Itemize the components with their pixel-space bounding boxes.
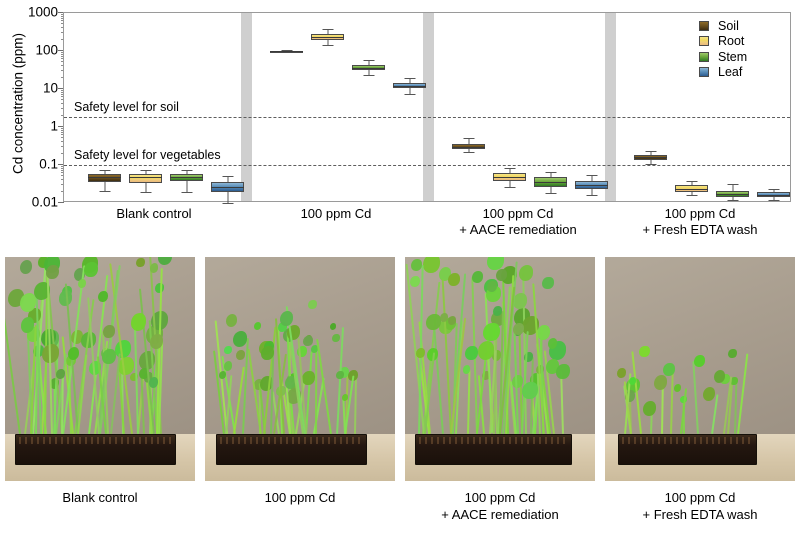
box-soil-group-3 <box>634 13 667 203</box>
sprout-leaf <box>465 346 477 360</box>
median-line <box>634 157 667 158</box>
photo-panel-3: 100 ppm Cd+ Fresh EDTA wash <box>605 257 795 481</box>
box-soil-group-1 <box>270 13 303 203</box>
photo-caption-line1: 100 ppm Cd <box>205 489 395 506</box>
sprout-leaf <box>219 371 226 379</box>
legend-swatch-root-icon <box>699 36 709 46</box>
whisker-cap-lower <box>463 152 474 153</box>
legend-swatch-leaf-icon <box>699 67 709 77</box>
sprout-leaf <box>84 262 98 278</box>
whisker-cap-lower <box>99 191 110 192</box>
y-tick-label-5: 0.01 <box>32 195 58 210</box>
photo-caption-3: 100 ppm Cd+ Fresh EDTA wash <box>605 489 795 523</box>
box-root-group-0 <box>129 13 162 203</box>
sprout-leaf <box>308 300 316 309</box>
soil-tray <box>618 434 757 465</box>
sprout-leaf <box>233 331 247 347</box>
box-stem-group-0 <box>170 13 203 203</box>
photo-caption-line1: 100 ppm Cd <box>605 489 795 506</box>
whisker-cap-upper <box>404 78 415 79</box>
legend-item-leaf[interactable]: Leaf <box>699 65 783 81</box>
photo-strip: Blank control100 ppm Cd100 ppm Cd+ AACE … <box>0 257 801 538</box>
box-body <box>88 174 121 182</box>
x-group-label-1: 100 ppm Cd <box>245 206 427 222</box>
sprout-leaf <box>493 306 501 315</box>
sprout-leaf <box>513 293 527 309</box>
whisker-cap-upper <box>727 184 738 185</box>
sprout-leaf <box>416 348 425 358</box>
median-line <box>716 194 749 195</box>
sprout-leaf <box>224 346 231 354</box>
whisker-cap-lower <box>545 193 556 194</box>
sprout-leaf <box>336 371 343 379</box>
y-tick-label-0: 1000 <box>28 5 58 20</box>
median-line <box>129 177 162 178</box>
x-group-label-0: Blank control <box>63 206 245 222</box>
sprout-leaf <box>302 371 315 385</box>
sprout-leaf <box>332 334 340 343</box>
median-line <box>757 195 790 196</box>
whisker-cap-upper <box>686 181 697 182</box>
whisker-cap-lower <box>363 75 374 76</box>
median-line <box>493 177 526 178</box>
x-group-label-line1: 100 ppm Cd <box>245 206 427 222</box>
x-group-label-line2: + AACE remediation <box>427 222 609 238</box>
sprout-leaf <box>714 370 725 382</box>
sprout-leaf <box>556 364 569 379</box>
whisker-cap-upper <box>99 170 110 171</box>
whisker-cap-upper <box>181 170 192 171</box>
sprout-leaf <box>542 277 553 290</box>
whisker-cap-upper <box>768 189 779 190</box>
soil-tray <box>15 434 177 465</box>
whisker-cap-upper <box>140 170 151 171</box>
box-stem-group-2 <box>534 13 567 203</box>
legend-item-stem[interactable]: Stem <box>699 49 783 65</box>
legend-item-root[interactable]: Root <box>699 34 783 50</box>
box-leaf-group-1 <box>393 13 426 203</box>
box-stem-group-1 <box>352 13 385 203</box>
sprout-leaf <box>150 263 159 273</box>
photo-panel-2: 100 ppm Cd+ AACE remediation <box>405 257 595 481</box>
sprout-leaf <box>280 311 293 326</box>
box-root-group-2 <box>493 13 526 203</box>
photo-caption-line1: 100 ppm Cd <box>405 489 595 506</box>
legend-label: Root <box>718 35 744 48</box>
x-group-label-3: 100 ppm Cd+ Fresh EDTA wash <box>609 206 791 238</box>
legend-swatch-stem-icon <box>699 52 709 62</box>
sprout-photo-0 <box>5 257 195 481</box>
median-line <box>452 147 485 148</box>
photo-caption-line1: Blank control <box>5 489 195 506</box>
sprout-photo-2 <box>405 257 595 481</box>
legend-label: Stem <box>718 51 747 64</box>
sprout-leaf <box>537 325 550 339</box>
whisker-lower <box>591 189 592 196</box>
sprout-leaf <box>440 313 448 322</box>
sprout-leaf <box>303 336 312 346</box>
x-group-label-line1: Blank control <box>63 206 245 222</box>
whisker-cap-lower <box>404 94 415 95</box>
photo-panel-1: 100 ppm Cd <box>205 257 395 481</box>
whisker-cap-lower <box>222 203 233 204</box>
whisker-cap-upper <box>363 60 374 61</box>
whisker-cap-lower <box>727 200 738 201</box>
sprout-leaf <box>654 375 667 390</box>
median-line <box>352 68 385 69</box>
photo-caption-0: Blank control <box>5 489 195 506</box>
sprout-stem <box>315 349 317 434</box>
photo-caption-1: 100 ppm Cd <box>205 489 395 506</box>
whisker-lower <box>145 183 146 191</box>
median-line <box>575 185 608 186</box>
y-tick-label-3: 1 <box>50 119 58 134</box>
legend-item-soil[interactable]: Soil <box>699 18 783 34</box>
whisker-lower <box>104 182 105 191</box>
sprout-leaf <box>56 369 65 379</box>
chart-legend: SoilRootStemLeaf <box>699 18 783 80</box>
legend-swatch-soil-icon <box>699 21 709 31</box>
figure-root: Cd concentration (ppm) 10001001010.10.01… <box>0 0 801 538</box>
y-axis-tick-labels: 10001001010.10.01 <box>0 12 58 202</box>
median-line <box>211 187 244 188</box>
sprout-leaf <box>548 338 558 349</box>
box-soil-group-0 <box>88 13 121 203</box>
sprout-leaf <box>522 382 538 400</box>
legend-label: Leaf <box>718 66 742 79</box>
box-soil-group-2 <box>452 13 485 203</box>
box-body <box>129 174 162 184</box>
sprout-photo-1 <box>205 257 395 481</box>
sprout-photo-3 <box>605 257 795 481</box>
whisker-lower <box>227 192 228 203</box>
whisker-lower <box>550 187 551 194</box>
whisker-cap-upper <box>322 29 333 30</box>
photo-caption-line2: + Fresh EDTA wash <box>605 506 795 523</box>
x-group-label-2: 100 ppm Cd+ AACE remediation <box>427 206 609 238</box>
x-group-label-line2: + Fresh EDTA wash <box>609 222 791 238</box>
whisker-cap-lower <box>322 45 333 46</box>
soil-tray <box>216 434 366 465</box>
median-line <box>534 182 567 183</box>
median-line <box>270 51 303 52</box>
boxplot-chart: Cd concentration (ppm) 10001001010.10.01… <box>0 0 801 255</box>
sprout-leaf <box>149 377 158 387</box>
whisker-cap-lower <box>645 164 656 165</box>
whisker-cap-upper <box>586 175 597 176</box>
photo-background-wall <box>605 257 795 434</box>
median-line <box>393 86 426 87</box>
whisker-cap-lower <box>768 200 779 201</box>
whisker-cap-lower <box>181 192 192 193</box>
median-line <box>675 189 708 190</box>
whisker-cap-upper <box>504 168 515 169</box>
sprout-leaf <box>410 276 420 287</box>
whisker-lower <box>186 181 187 192</box>
sprout-leaf <box>236 350 245 360</box>
sprout-leaf <box>261 346 273 360</box>
box-leaf-group-0 <box>211 13 244 203</box>
median-line <box>88 177 121 178</box>
x-axis-group-labels: Blank control100 ppm Cd100 ppm Cd+ AACE … <box>63 206 791 254</box>
whisker-cap-lower <box>504 187 515 188</box>
y-tick-label-2: 10 <box>43 81 58 96</box>
whisker-cap-upper <box>645 151 656 152</box>
legend-label: Soil <box>718 20 739 33</box>
box-leaf-group-2 <box>575 13 608 203</box>
y-tick-major-5 <box>58 202 64 203</box>
whisker-cap-upper <box>463 138 474 139</box>
sprout-stem <box>354 375 357 434</box>
whisker-cap-upper <box>545 172 556 173</box>
x-group-label-line1: 100 ppm Cd <box>427 206 609 222</box>
box-root-group-1 <box>311 13 344 203</box>
whisker-cap-lower <box>586 195 597 196</box>
y-tick-label-4: 0.1 <box>39 157 58 172</box>
median-line <box>311 37 344 38</box>
whisker-cap-lower <box>686 195 697 196</box>
y-tick-label-1: 100 <box>35 43 58 58</box>
median-line <box>170 177 203 178</box>
photo-caption-line2: + AACE remediation <box>405 506 595 523</box>
whisker-cap-upper <box>222 176 233 177</box>
photo-caption-2: 100 ppm Cd+ AACE remediation <box>405 489 595 523</box>
plot-area: Safety level for soilSafety level for ve… <box>63 12 791 202</box>
sprout-leaf <box>115 340 131 358</box>
sprout-leaf <box>643 401 656 416</box>
whisker-cap-lower <box>140 192 151 193</box>
sprout-leaf <box>426 314 440 330</box>
soil-tray <box>415 434 573 465</box>
photo-panel-0: Blank control <box>5 257 195 481</box>
x-group-label-line1: 100 ppm Cd <box>609 206 791 222</box>
